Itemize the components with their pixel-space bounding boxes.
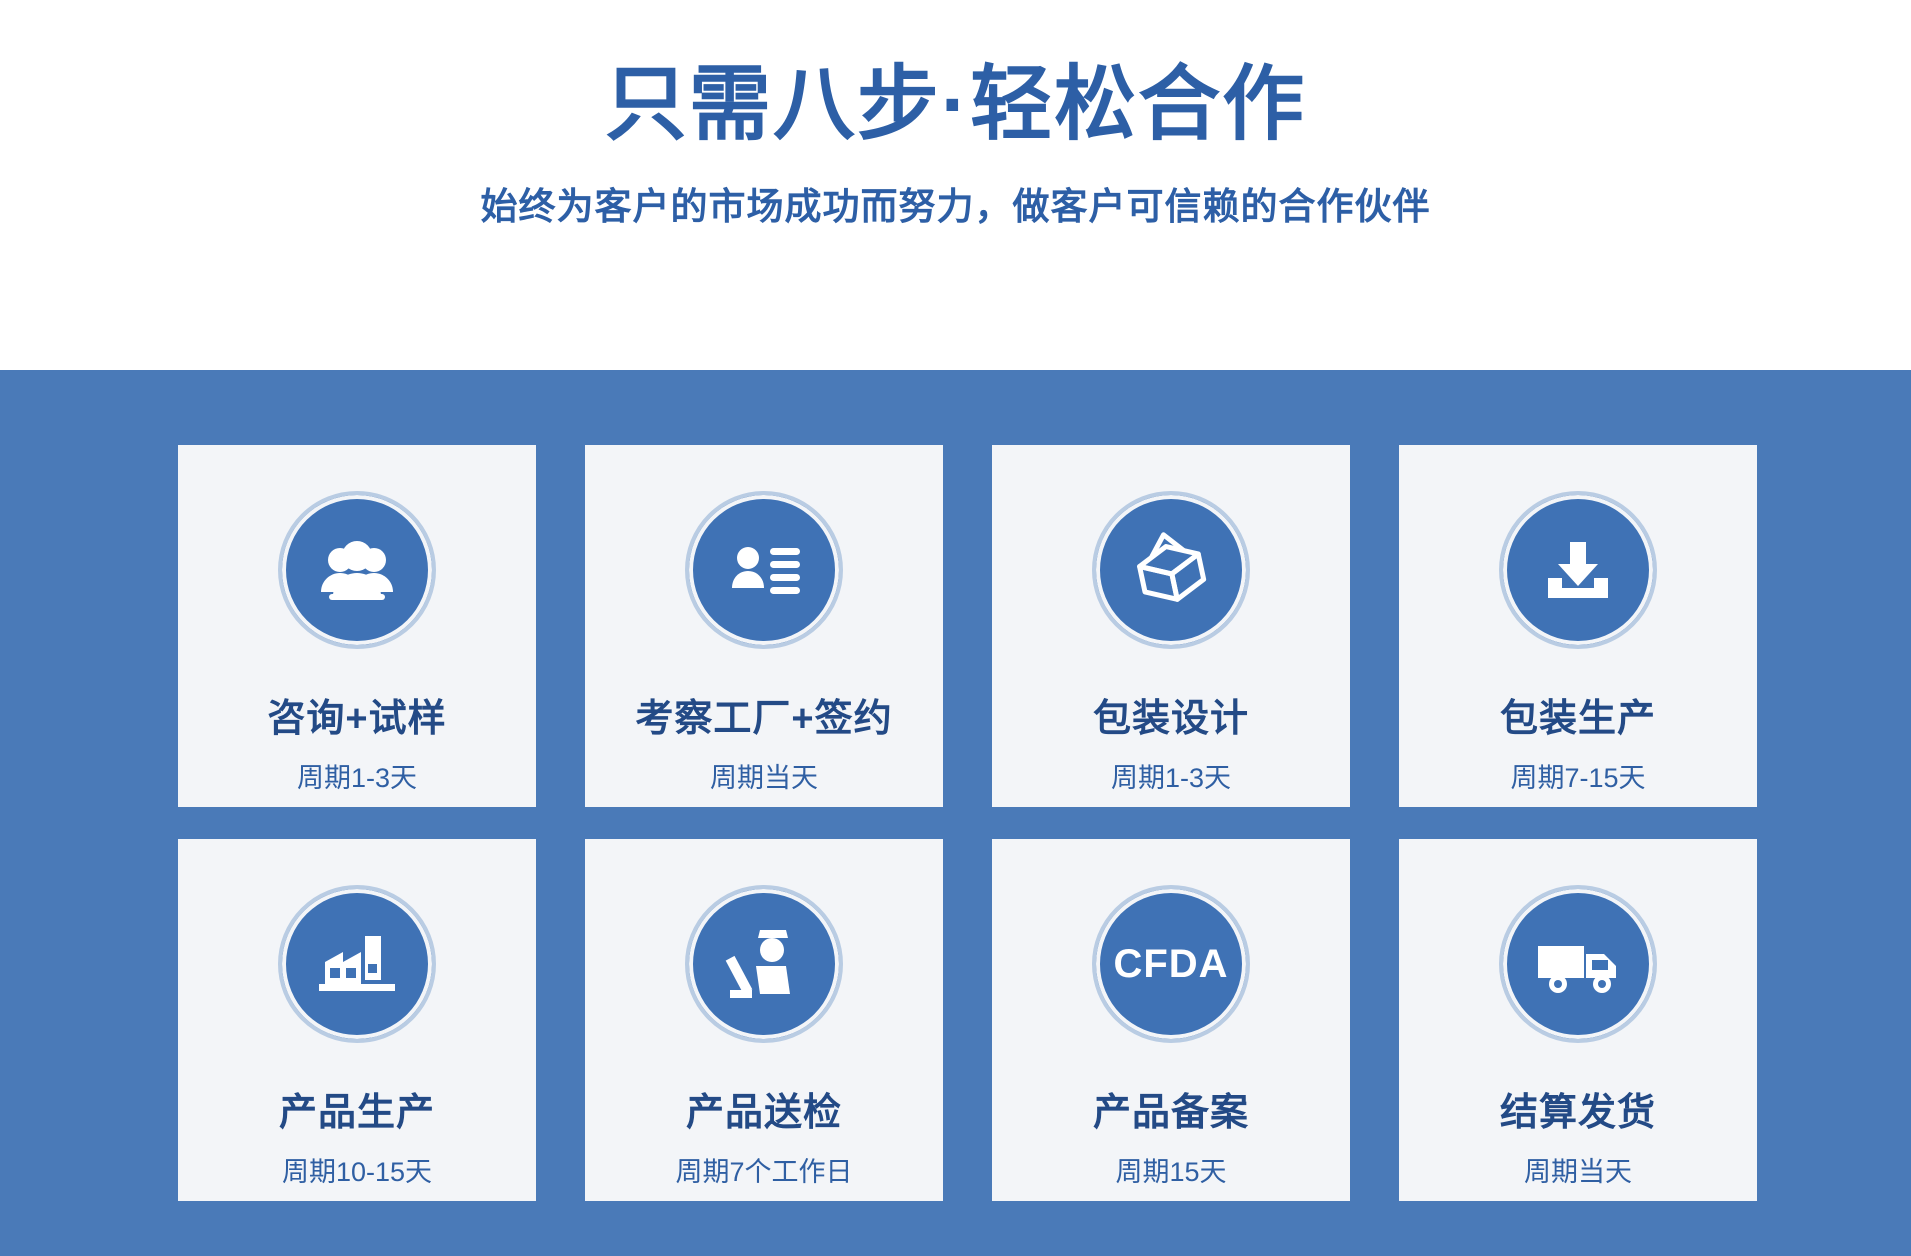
step-title: 包装设计	[1093, 687, 1249, 742]
step-period: 周期当天	[710, 756, 818, 795]
page-title: 只需八步·轻松合作	[605, 60, 1306, 150]
step-card-6[interactable]: 产品送检 周期7个工作日	[585, 839, 943, 1201]
open-box-icon	[1092, 491, 1250, 649]
step-title: 结算发货	[1500, 1081, 1656, 1136]
step-title: 考察工厂+签约	[635, 687, 892, 742]
step-period: 周期1-3天	[297, 756, 417, 795]
step-title: 咨询+试样	[267, 687, 446, 742]
step-period: 周期1-3天	[1111, 756, 1231, 795]
step-title: 产品送检	[686, 1081, 842, 1136]
cfda-icon: CFDA	[1092, 885, 1250, 1043]
step-card-1[interactable]: 咨询+试样 周期1-3天	[178, 445, 536, 807]
step-card-3[interactable]: 包装设计 周期1-3天	[992, 445, 1350, 807]
step-card-5[interactable]: 产品生产 周期10-15天	[178, 839, 536, 1201]
steps-grid: 咨询+试样 周期1-3天 考察工厂+签约 周期当天	[178, 445, 1758, 1201]
factory-icon	[278, 885, 436, 1043]
step-card-4[interactable]: 包装生产 周期7-15天	[1399, 445, 1757, 807]
truck-icon	[1499, 885, 1657, 1043]
step-title: 产品生产	[279, 1081, 435, 1136]
step-period: 周期当天	[1524, 1150, 1632, 1189]
step-card-2[interactable]: 考察工厂+签约 周期当天	[585, 445, 943, 807]
users-icon	[278, 491, 436, 649]
steps-panel: 咨询+试样 周期1-3天 考察工厂+签约 周期当天	[0, 370, 1911, 1256]
step-period: 周期7-15天	[1510, 756, 1645, 795]
step-period: 周期7个工作日	[675, 1150, 852, 1189]
step-card-8[interactable]: 结算发货 周期当天	[1399, 839, 1757, 1201]
cfda-label: CFDA	[1113, 942, 1228, 987]
inspector-icon	[685, 885, 843, 1043]
step-period: 周期15天	[1115, 1150, 1226, 1189]
header: 只需八步·轻松合作 始终为客户的市场成功而努力，做客户可信赖的合作伙伴	[0, 0, 1911, 370]
step-title: 产品备案	[1093, 1081, 1249, 1136]
page-root: 只需八步·轻松合作 始终为客户的市场成功而努力，做客户可信赖的合作伙伴	[0, 0, 1911, 1256]
step-period: 周期10-15天	[282, 1150, 432, 1189]
download-tray-icon	[1499, 491, 1657, 649]
step-title: 包装生产	[1500, 687, 1656, 742]
page-subtitle: 始终为客户的市场成功而努力，做客户可信赖的合作伙伴	[481, 176, 1431, 230]
id-card-icon	[685, 491, 843, 649]
step-card-7[interactable]: CFDA 产品备案 周期15天	[992, 839, 1350, 1201]
